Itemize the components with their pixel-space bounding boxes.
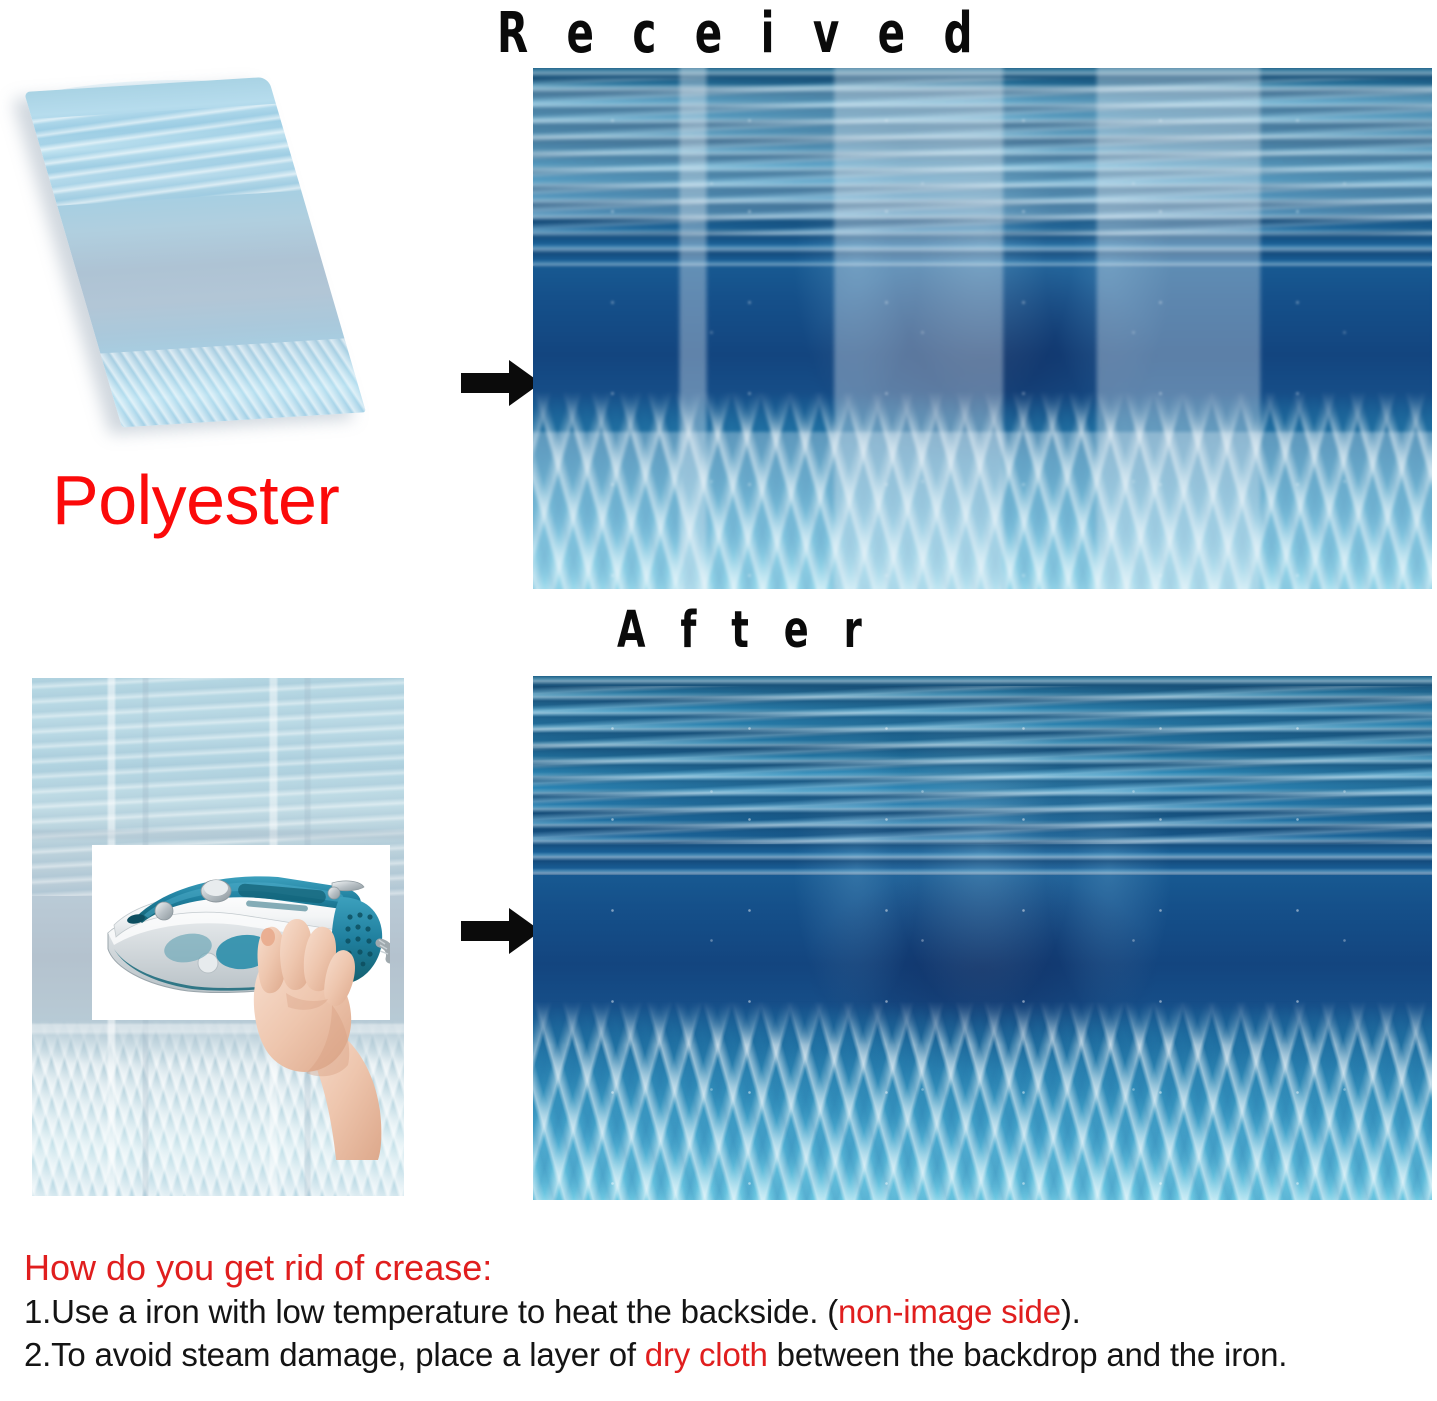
- instruction-1-highlight: non-image side: [838, 1293, 1061, 1330]
- instruction-1-suffix: ).: [1061, 1293, 1081, 1330]
- water-particles: [533, 68, 1432, 589]
- arrow-right-icon: [459, 905, 543, 957]
- water-particles: [533, 676, 1432, 1200]
- instruction-2-text: 2.To avoid steam damage, place a layer o…: [24, 1336, 645, 1373]
- after-stage-label: A f t e r: [617, 601, 873, 660]
- instruction-line-1: 1.Use a iron with low temperature to hea…: [24, 1290, 1424, 1334]
- received-backdrop-photo: [533, 68, 1432, 589]
- hand-on-iron-illustration: [228, 905, 393, 1160]
- folded-polyester-swatch-image: [24, 77, 366, 428]
- instruction-line-2: 2.To avoid steam damage, place a layer o…: [24, 1333, 1424, 1377]
- received-stage-label: R e c e i v e d: [497, 1, 985, 66]
- arrow-right-icon: [459, 357, 543, 409]
- instruction-1-text: 1.Use a iron with low temperature to hea…: [24, 1293, 838, 1330]
- instructions-heading: How do you get rid of crease:: [24, 1246, 1424, 1290]
- instruction-2-suffix: between the backdrop and the iron.: [768, 1336, 1288, 1373]
- instruction-2-highlight: dry cloth: [645, 1336, 768, 1373]
- crease-removal-instructions: How do you get rid of crease: 1.Use a ir…: [24, 1246, 1424, 1377]
- after-backdrop-photo: [533, 676, 1432, 1200]
- polyester-material-caption: Polyester: [52, 460, 339, 540]
